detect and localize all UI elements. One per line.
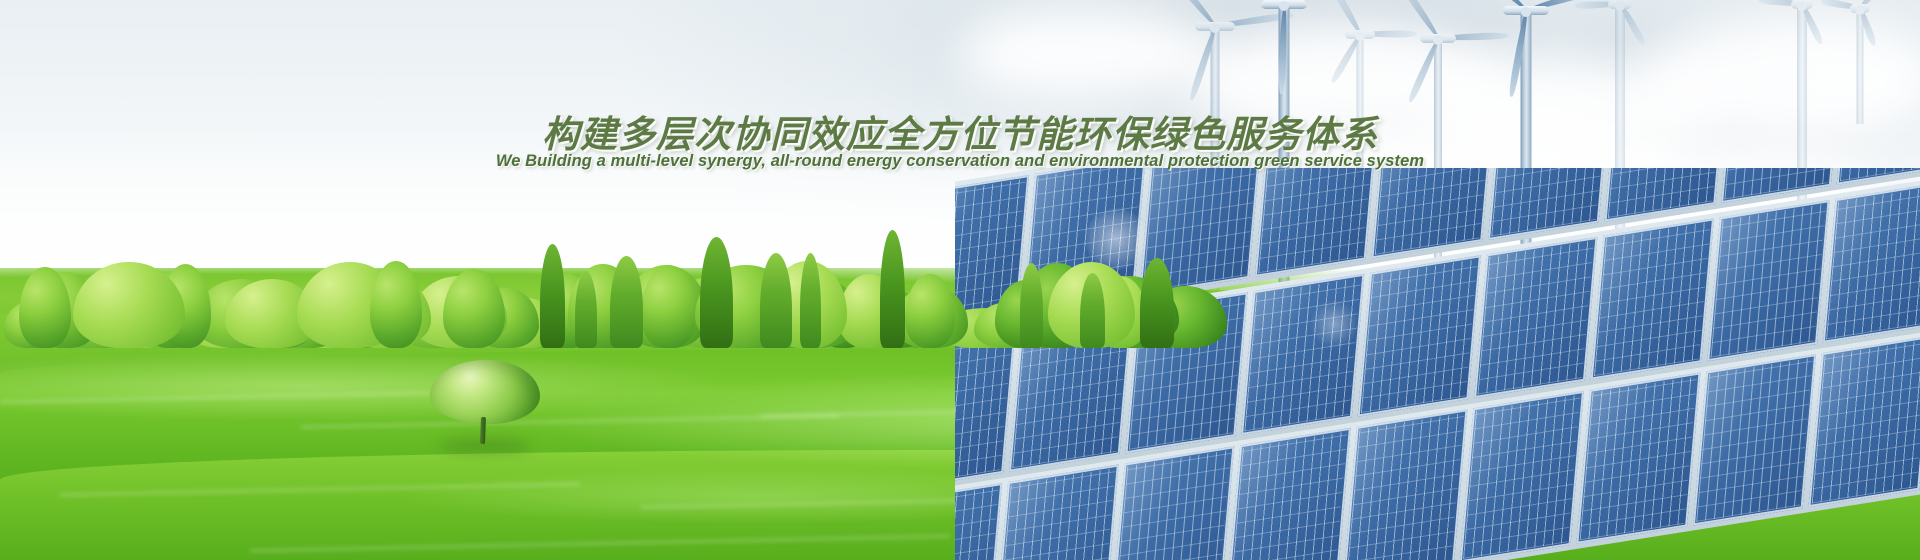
treeline-cypress (1140, 258, 1174, 348)
turbine-hub (1615, 1, 1625, 11)
turbine-hub (1279, 1, 1289, 11)
turbine-hub (1355, 31, 1365, 41)
treeline-cypress (880, 230, 905, 348)
grass-field-near (0, 450, 1920, 560)
turbine-hub (1855, 5, 1865, 15)
eco-energy-hero-banner: 构建多层次协同效应全方位节能环保绿色服务体系 We Building a mul… (0, 0, 1920, 560)
turbine-hub (1797, 1, 1807, 11)
treeline-cypress (700, 237, 733, 348)
treeline-cypress (1080, 273, 1105, 348)
tree-canopy (430, 360, 540, 424)
tree-trunk (480, 417, 486, 444)
foreground-lone-tree (430, 360, 540, 444)
turbine-hub (1521, 7, 1531, 17)
turbine-hub (1210, 23, 1220, 33)
turbine-hub (1433, 35, 1443, 45)
banner-headline: 构建多层次协同效应全方位节能环保绿色服务体系 (0, 104, 1920, 158)
treeline-cypress (540, 244, 565, 348)
banner-subheadline: We Building a multi-level synergy, all-r… (0, 152, 1920, 171)
